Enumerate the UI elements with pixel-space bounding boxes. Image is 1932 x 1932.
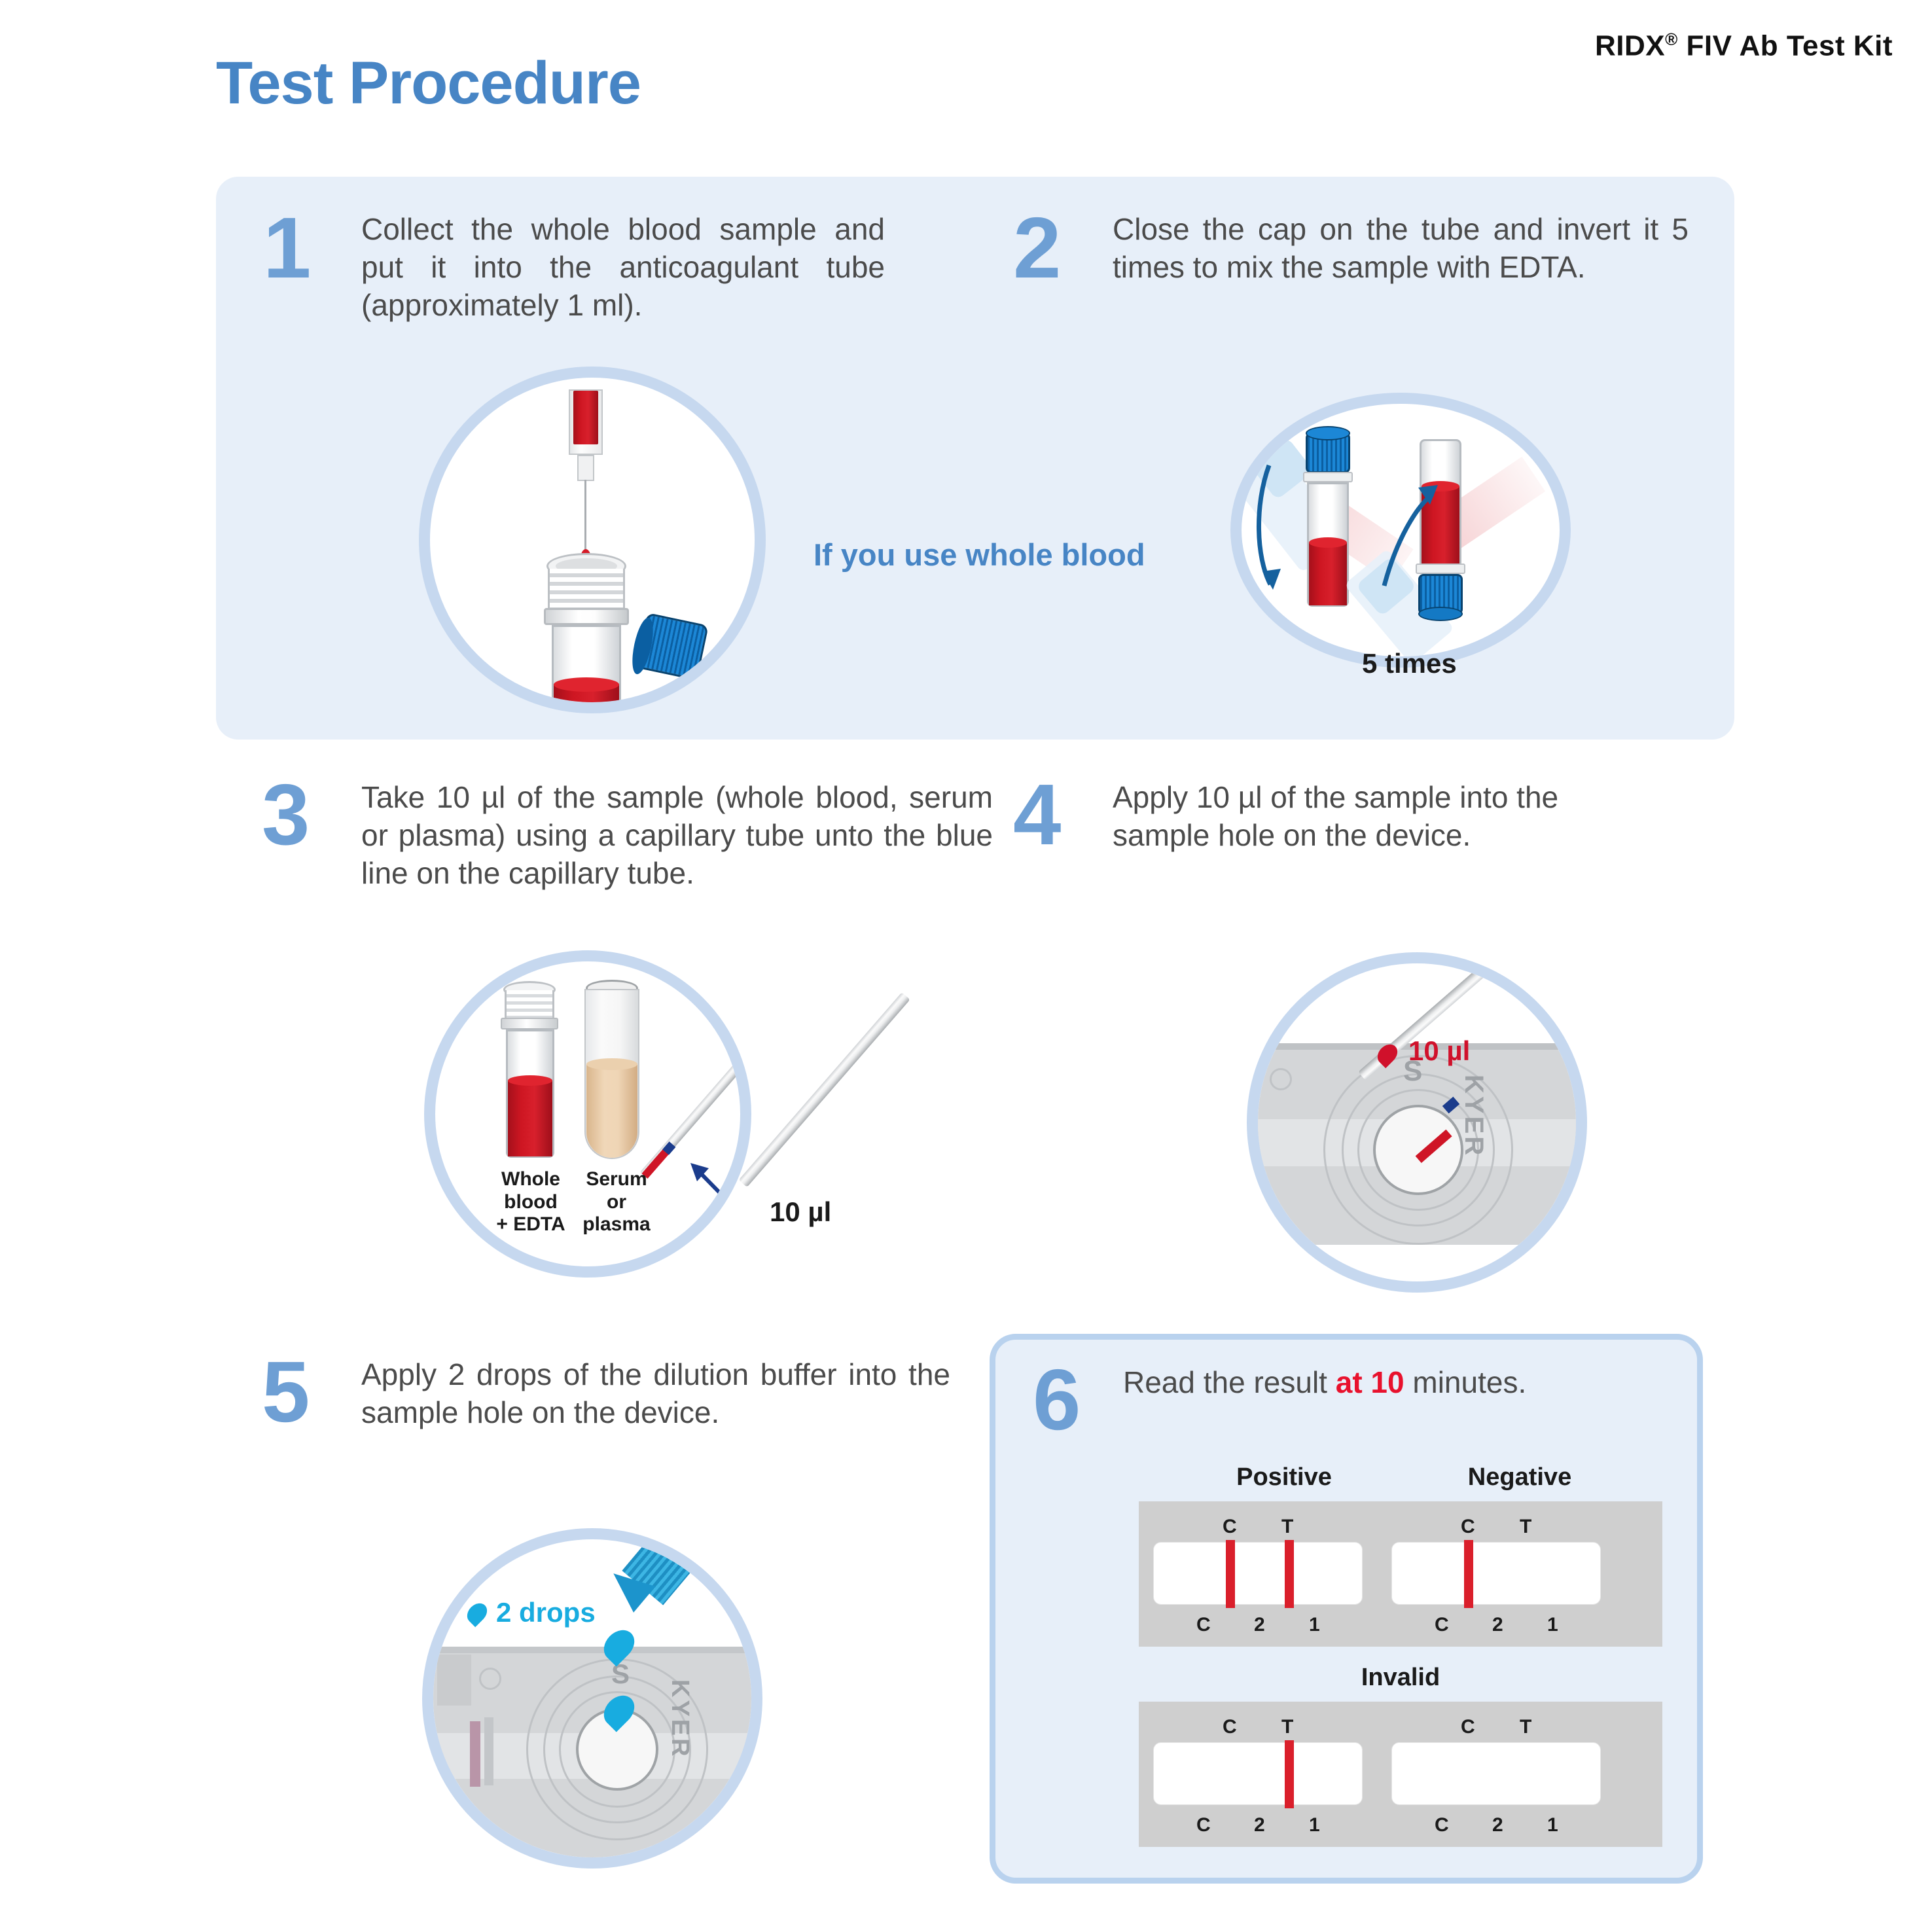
label-whole-blood-line3: + EDTA bbox=[492, 1213, 570, 1236]
invalid-a-bottom-label-2: 2 bbox=[1254, 1814, 1265, 1836]
positive-band-t bbox=[1285, 1540, 1294, 1608]
step-number-3: 3 bbox=[262, 776, 307, 854]
negative-top-label-c: C bbox=[1461, 1516, 1475, 1538]
step-text-2: Close the cap on the tube and invert it … bbox=[1113, 211, 1689, 287]
invalid-b-top-label-t: T bbox=[1520, 1716, 1531, 1738]
drop-icon-label bbox=[463, 1600, 491, 1627]
invalid-a-band-t bbox=[1285, 1740, 1294, 1808]
negative-band-c bbox=[1464, 1540, 1473, 1608]
invalid-b-top-label-c: C bbox=[1461, 1716, 1475, 1738]
positive-bottom-label-c: C bbox=[1196, 1614, 1211, 1636]
invalid-a-top-label-c: C bbox=[1223, 1716, 1237, 1738]
two-drops-label: 2 drops bbox=[496, 1597, 596, 1628]
kit-title-rest: FIV Ab Test Kit bbox=[1678, 30, 1893, 62]
step2-illustration bbox=[1230, 393, 1571, 668]
device-brand-label-step5: KYER bbox=[666, 1679, 694, 1759]
invalid-a-top-label-t: T bbox=[1281, 1716, 1293, 1738]
kit-title: RIDX® FIV Ab Test Kit bbox=[1595, 29, 1893, 63]
step-number-4: 4 bbox=[1013, 776, 1058, 854]
negative-strip bbox=[1391, 1542, 1601, 1605]
result-row-positive-negative: C T C 2 1 C T C 2 1 bbox=[1139, 1501, 1662, 1647]
step-text-6: Read the result at 10 minutes. bbox=[1123, 1364, 1647, 1402]
whole-blood-note: If you use whole blood bbox=[814, 537, 1145, 573]
negative-top-label-t: T bbox=[1520, 1516, 1531, 1538]
step-number-5: 5 bbox=[262, 1353, 307, 1431]
positive-top-label-t: T bbox=[1281, 1516, 1293, 1538]
step-number-2: 2 bbox=[1013, 209, 1058, 287]
label-whole-blood-line2: blood bbox=[492, 1191, 570, 1214]
step-number-6: 6 bbox=[1033, 1361, 1078, 1439]
step3-illustration: Whole blood + EDTA Serum or plasma bbox=[424, 950, 751, 1278]
device-brand-label: KYER bbox=[1459, 1075, 1488, 1158]
five-times-label: 5 times bbox=[1362, 648, 1457, 679]
volume-label-10ul-device: 10 µl bbox=[1408, 1035, 1470, 1067]
positive-bottom-label-2: 2 bbox=[1254, 1614, 1265, 1636]
invalid-a-bottom-label-1: 1 bbox=[1309, 1814, 1320, 1836]
step-text-6-before: Read the result bbox=[1123, 1365, 1336, 1399]
step-text-1: Collect the whole blood sample and put i… bbox=[361, 211, 885, 325]
volume-label-10ul: 10 µl bbox=[770, 1196, 831, 1228]
positive-bottom-label-1: 1 bbox=[1309, 1614, 1320, 1636]
negative-bottom-label-c: C bbox=[1435, 1614, 1449, 1636]
result-title-negative: Negative bbox=[1435, 1463, 1605, 1492]
invalid-b-bottom-label-2: 2 bbox=[1492, 1814, 1503, 1836]
rotate-arrow-left-icon bbox=[1249, 459, 1328, 596]
kit-title-main: RIDX bbox=[1595, 30, 1665, 62]
positive-band-c bbox=[1226, 1540, 1235, 1608]
rotate-arrow-right-icon bbox=[1370, 476, 1448, 594]
step-number-1: 1 bbox=[263, 209, 308, 287]
step-text-3: Take 10 µl of the sample (whole blood, s… bbox=[361, 779, 993, 893]
capillary-tube-step3 bbox=[739, 992, 910, 1187]
step-text-4: Apply 10 µl of the sample into the sampl… bbox=[1113, 779, 1636, 855]
label-serum-line2: plasma bbox=[574, 1213, 659, 1236]
positive-strip bbox=[1153, 1542, 1363, 1605]
label-serum-line1: Serum or bbox=[574, 1168, 659, 1213]
step-text-5: Apply 2 drops of the dilution buffer int… bbox=[361, 1356, 950, 1432]
step-text-6-highlight: at 10 bbox=[1336, 1365, 1404, 1399]
pointer-arrow-icon bbox=[677, 1158, 751, 1236]
invalid-b-strip bbox=[1391, 1742, 1601, 1805]
result-row-invalid: C T C 2 1 C T C 2 1 bbox=[1139, 1702, 1662, 1847]
page-title: Test Procedure bbox=[216, 49, 641, 118]
negative-bottom-label-1: 1 bbox=[1547, 1614, 1558, 1636]
result-title-invalid: Invalid bbox=[1315, 1664, 1486, 1692]
invalid-b-bottom-label-1: 1 bbox=[1547, 1814, 1558, 1836]
test-procedure-page: RIDX® FIV Ab Test Kit Test Procedure 1 C… bbox=[0, 0, 1932, 1932]
result-title-positive: Positive bbox=[1199, 1463, 1369, 1492]
invalid-b-bottom-label-c: C bbox=[1435, 1814, 1449, 1836]
step-text-6-after: minutes. bbox=[1404, 1365, 1527, 1399]
invalid-a-bottom-label-c: C bbox=[1196, 1814, 1211, 1836]
label-whole-blood-line1: Whole bbox=[492, 1168, 570, 1191]
negative-bottom-label-2: 2 bbox=[1492, 1614, 1503, 1636]
step4-illustration: S KYER bbox=[1247, 952, 1587, 1293]
positive-top-label-c: C bbox=[1223, 1516, 1237, 1538]
invalid-a-strip bbox=[1153, 1742, 1363, 1805]
step1-illustration bbox=[419, 367, 766, 713]
registered-trademark-icon: ® bbox=[1665, 29, 1678, 49]
step5-illustration: S KYER 2 drops bbox=[422, 1528, 762, 1869]
